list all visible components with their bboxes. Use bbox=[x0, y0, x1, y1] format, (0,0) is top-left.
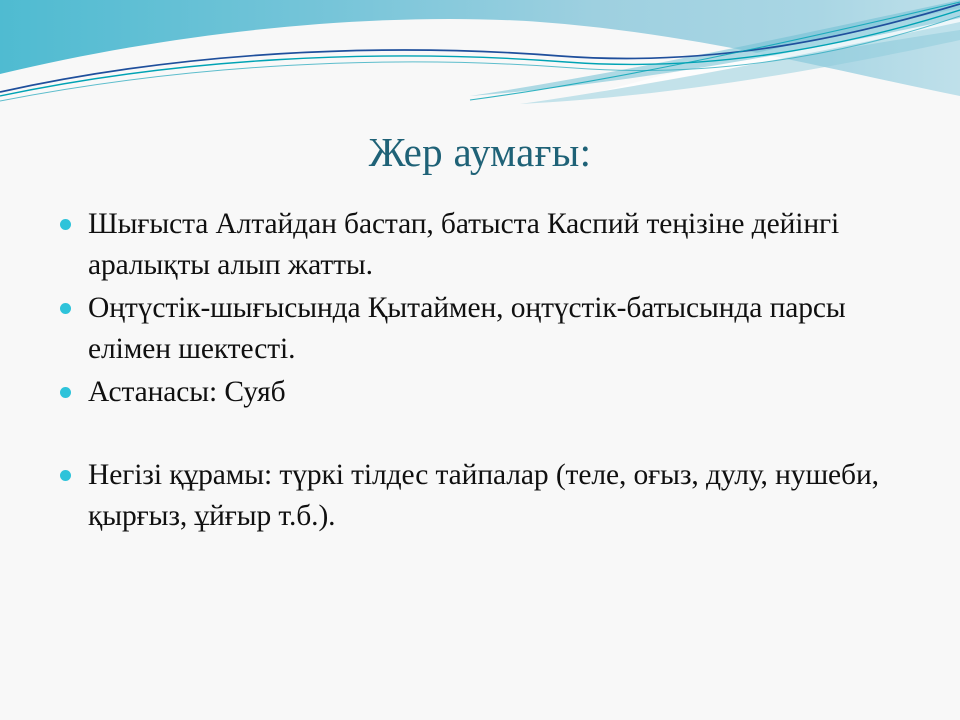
list-item-empty bbox=[46, 415, 926, 453]
content-placeholder: Шығыста Алтайдан бастап, батыста Каспий … bbox=[46, 204, 926, 539]
white-wave-lower bbox=[0, 27, 960, 130]
bullet-dot-icon bbox=[60, 303, 71, 314]
list-item: Шығыста Алтайдан бастап, батыста Каспий … bbox=[46, 204, 926, 286]
navy-curve-line bbox=[0, 4, 960, 92]
header-wave-decoration bbox=[0, 0, 960, 130]
teal-curve-line-outer bbox=[0, 16, 960, 101]
teal-band bbox=[0, 0, 960, 96]
list-item-label: Негізі құрамы: түркі тілдес тайпалар (те… bbox=[88, 455, 926, 537]
list-item-label: Шығыста Алтайдан бастап, батыста Каспий … bbox=[88, 204, 926, 286]
list-item: Оңтүстік-шығысында Қытаймен, оңтүстік-ба… bbox=[46, 288, 926, 370]
list-item-label: Оңтүстік-шығысында Қытаймен, оңтүстік-ба… bbox=[88, 288, 926, 370]
bullet-dot-icon bbox=[60, 387, 71, 398]
list-item-label: Астанасы: Суяб bbox=[88, 372, 926, 413]
white-ribbon-upper bbox=[600, 8, 960, 92]
list-item: Астанасы: Суяб bbox=[46, 372, 926, 413]
list-item: Негізі құрамы: түркі тілдес тайпалар (те… bbox=[46, 455, 926, 537]
teal-ribbon-diagonal bbox=[470, 0, 960, 96]
title-placeholder: Жер аумағы: bbox=[60, 128, 900, 176]
bullet-dot-icon bbox=[60, 470, 71, 481]
wave-graphic bbox=[0, 0, 960, 130]
bullet-dot-icon bbox=[60, 219, 71, 230]
page-title: Жер аумағы: bbox=[60, 128, 900, 176]
teal-curve-line bbox=[0, 10, 960, 96]
accent-curve-line bbox=[470, 2, 960, 100]
teal-ribbon-diagonal-2 bbox=[520, 22, 960, 104]
presentation-slide: Жер аумағы: Шығыста Алтайдан бастап, бат… bbox=[0, 0, 960, 720]
